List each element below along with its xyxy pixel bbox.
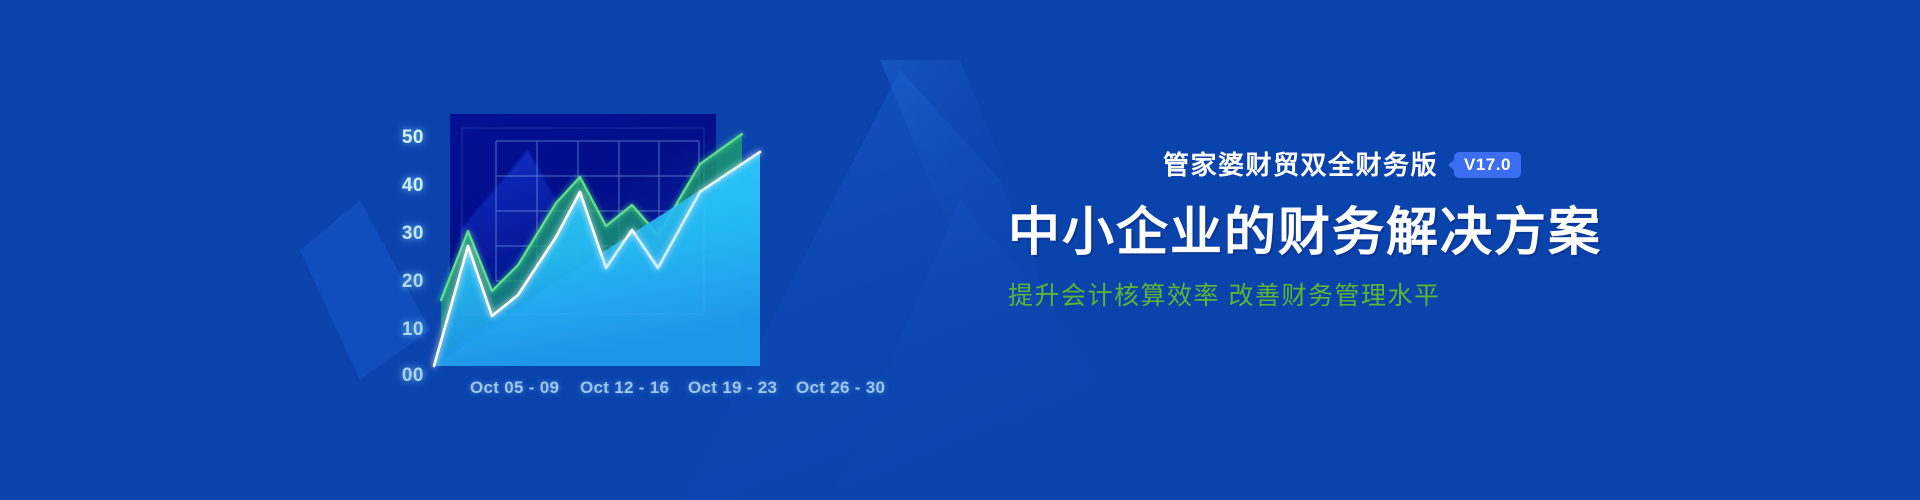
product-name: 管家婆财贸双全财务版 (1163, 152, 1438, 178)
y-tick-label: 20 (402, 271, 424, 293)
x-tick-label: Oct 12 - 16 (580, 378, 669, 398)
y-tick-label: 00 (402, 365, 424, 387)
chart-graphic: 50 40 30 20 10 00 Oct 05 - 09 Oct 12 - 1… (0, 0, 1000, 500)
brand-row: 管家婆财贸双全财务版 V17.0 (1008, 148, 1628, 182)
headline: 中小企业的财务解决方案 (1008, 204, 1628, 264)
chart-svg (0, 0, 1000, 500)
y-tick-label: 40 (402, 175, 424, 197)
banner-text-block: 管家婆财贸双全财务版 V17.0 中小企业的财务解决方案 提升会计核算效率 改善… (1008, 148, 1628, 309)
y-axis: 50 40 30 20 10 00 (378, 113, 424, 368)
x-tick-label: Oct 19 - 23 (688, 378, 777, 398)
x-tick-label: Oct 05 - 09 (470, 378, 559, 398)
x-tick-label: Oct 26 - 30 (796, 378, 885, 398)
y-tick-label: 30 (402, 223, 424, 245)
subheadline: 提升会计核算效率 改善财务管理水平 (1008, 284, 1628, 309)
y-tick-label: 50 (402, 127, 424, 149)
x-axis: Oct 05 - 09 Oct 12 - 16 Oct 19 - 23 Oct … (470, 378, 900, 402)
promo-banner: 50 40 30 20 10 00 Oct 05 - 09 Oct 12 - 1… (0, 0, 1920, 500)
version-badge-wrapper: V17.0 (1454, 152, 1521, 178)
y-tick-label: 10 (402, 319, 424, 341)
version-badge: V17.0 (1454, 152, 1521, 178)
